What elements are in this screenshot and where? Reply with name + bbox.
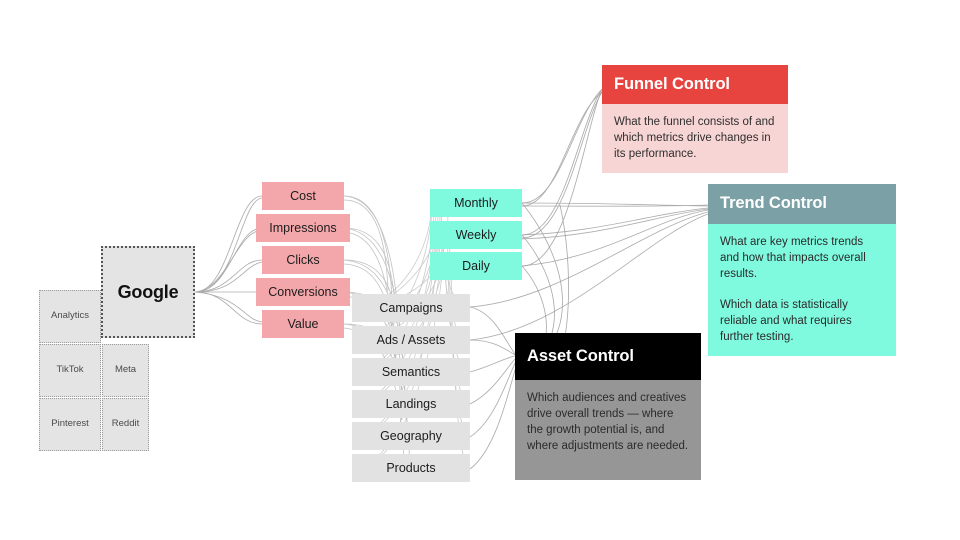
metric-label-impressions: Impressions — [269, 221, 336, 235]
metric-row-clicks[interactable]: Clicks — [262, 246, 344, 274]
platform-label-pinterest: Pinterest — [51, 419, 89, 430]
platform-node-meta[interactable]: Meta — [102, 344, 149, 397]
dimension-label-geography: Geography — [380, 429, 442, 443]
dimension-row-semantics[interactable]: Semantics — [352, 358, 470, 386]
card-trend-control[interactable]: Trend Control What are key metrics trend… — [708, 184, 896, 356]
dimension-row-products[interactable]: Products — [352, 454, 470, 482]
card-funnel-control-title: Funnel Control — [602, 65, 788, 104]
platform-label-google: Google — [118, 282, 179, 303]
platform-node-google[interactable]: Google — [101, 246, 195, 338]
card-asset-control-body: Which audiences and creatives drive over… — [515, 380, 701, 480]
metric-label-clicks: Clicks — [286, 253, 319, 267]
dimension-label-landings: Landings — [386, 397, 437, 411]
period-row-daily[interactable]: Daily — [430, 252, 522, 280]
period-label-weekly: Weekly — [456, 228, 497, 242]
diagram-canvas: Google Analytics TikTok Meta Pinterest R… — [0, 0, 960, 540]
dimension-label-campaigns: Campaigns — [379, 301, 442, 315]
card-asset-control[interactable]: Asset Control Which audiences and creati… — [515, 333, 701, 480]
platform-label-analytics: Analytics — [51, 311, 89, 322]
platform-node-tiktok[interactable]: TikTok — [39, 344, 101, 397]
metric-label-cost: Cost — [290, 189, 316, 203]
dimension-row-landings[interactable]: Landings — [352, 390, 470, 418]
period-row-monthly[interactable]: Monthly — [430, 189, 522, 217]
dimension-label-products: Products — [386, 461, 435, 475]
metric-row-impressions[interactable]: Impressions — [256, 214, 350, 242]
metric-row-conversions[interactable]: Conversions — [256, 278, 350, 306]
period-label-daily: Daily — [462, 259, 490, 273]
dimension-label-ads-assets: Ads / Assets — [377, 333, 446, 347]
card-funnel-control-body: What the funnel consists of and which me… — [602, 104, 788, 173]
platform-node-reddit[interactable]: Reddit — [102, 398, 149, 451]
platform-label-reddit: Reddit — [112, 419, 139, 430]
metric-label-conversions: Conversions — [268, 285, 337, 299]
card-trend-control-title: Trend Control — [708, 184, 896, 224]
platform-node-pinterest[interactable]: Pinterest — [39, 398, 101, 451]
metric-row-value[interactable]: Value — [262, 310, 344, 338]
platform-label-tiktok: TikTok — [56, 365, 83, 376]
platform-label-meta: Meta — [115, 365, 136, 376]
dimension-row-geography[interactable]: Geography — [352, 422, 470, 450]
period-row-weekly[interactable]: Weekly — [430, 221, 522, 249]
dimension-row-ads-assets[interactable]: Ads / Assets — [352, 326, 470, 354]
platform-node-analytics[interactable]: Analytics — [39, 290, 101, 343]
card-asset-control-title: Asset Control — [515, 333, 701, 380]
metric-row-cost[interactable]: Cost — [262, 182, 344, 210]
card-funnel-control[interactable]: Funnel Control What the funnel consists … — [602, 65, 788, 173]
period-label-monthly: Monthly — [454, 196, 498, 210]
card-trend-control-body: What are key metrics trends and how that… — [708, 224, 896, 356]
metric-label-value: Value — [287, 317, 318, 331]
dimension-label-semantics: Semantics — [382, 365, 440, 379]
dimension-row-campaigns[interactable]: Campaigns — [352, 294, 470, 322]
